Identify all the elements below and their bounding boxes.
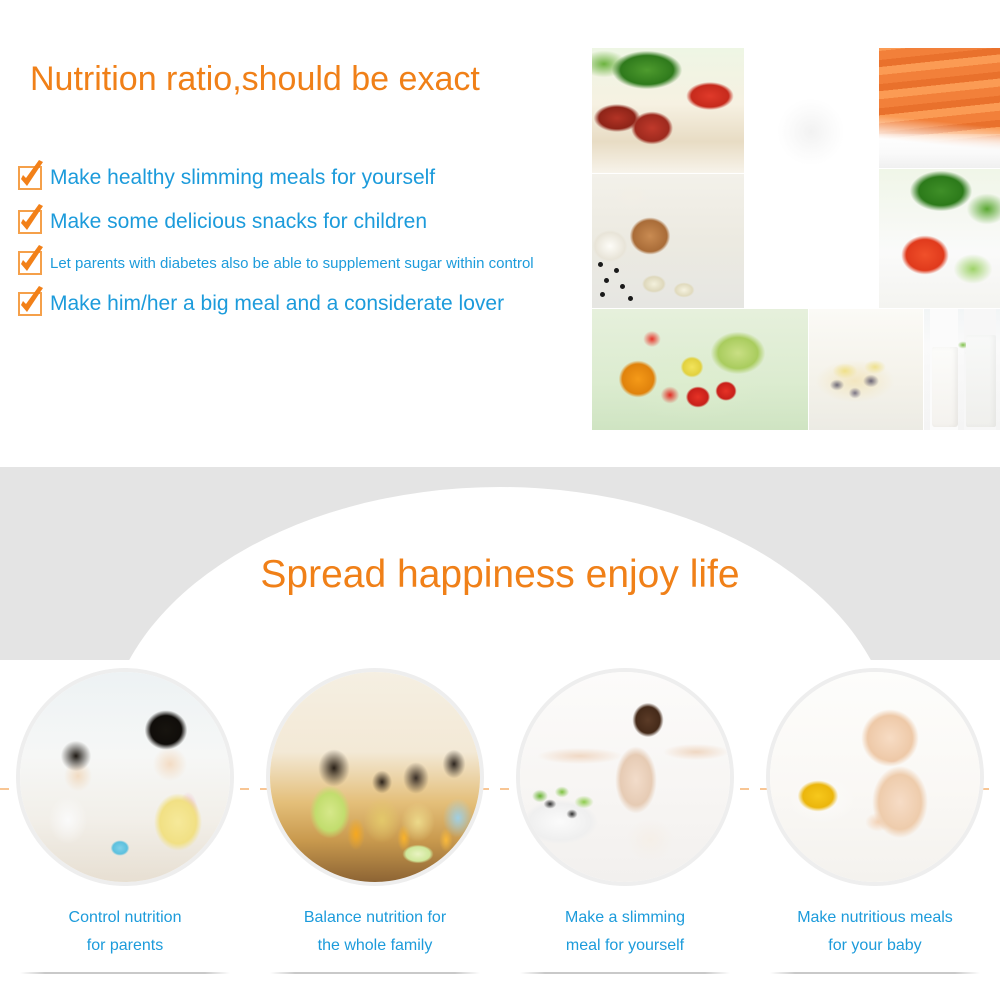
caption-line-2: for your baby bbox=[762, 932, 988, 960]
checkmark-icon bbox=[18, 166, 42, 190]
milk-glasses-photo bbox=[924, 309, 1000, 430]
page-title: Nutrition ratio,should be exact bbox=[30, 60, 480, 99]
use-case-caption: Balance nutrition for the whole family bbox=[262, 904, 488, 960]
benefit-list: Make healthy slimming meals for yourself… bbox=[18, 158, 618, 328]
use-cases-section: Balance nutrition for the whole family M… bbox=[0, 660, 1000, 1000]
band-title: Spread happiness enjoy life bbox=[0, 553, 1000, 597]
use-case-card: Balance nutrition for the whole family bbox=[250, 660, 500, 1000]
use-case-card: Make a slimming meal for yourself bbox=[500, 660, 750, 1000]
snack-tray-photo bbox=[809, 309, 923, 430]
caption-line-1: Control nutrition bbox=[12, 904, 238, 932]
woman-exercising-with-salad-photo bbox=[516, 668, 734, 886]
white-starch-powder-photo bbox=[745, 48, 878, 308]
use-case-caption: Make nutritious meals for your baby bbox=[762, 904, 988, 960]
benefit-label: Make some delicious snacks for children bbox=[50, 210, 427, 234]
caption-line-1: Balance nutrition for bbox=[262, 904, 488, 932]
caption-line-1: Make nutritious meals bbox=[762, 904, 988, 932]
caption-line-2: for parents bbox=[12, 932, 238, 960]
raw-beef-and-parsley-photo bbox=[592, 48, 744, 173]
caption-line-2: the whole family bbox=[262, 932, 488, 960]
eggs-and-tofu-photo bbox=[592, 174, 744, 308]
checkmark-icon bbox=[18, 292, 42, 316]
baby-with-bowl-photo bbox=[766, 668, 984, 886]
use-case-caption: Control nutrition for parents bbox=[12, 904, 238, 960]
caption-line-2: meal for yourself bbox=[512, 932, 738, 960]
food-collage bbox=[592, 48, 1000, 430]
leaf-icon bbox=[958, 339, 974, 361]
nutrition-ratio-section: Nutrition ratio,should be exact Make hea… bbox=[0, 0, 1000, 467]
fruit-platter-photo bbox=[592, 309, 808, 430]
caption-line-1: Make a slimming bbox=[512, 904, 738, 932]
benefit-label: Make healthy slimming meals for yourself bbox=[50, 166, 435, 190]
spread-happiness-band: Spread happiness enjoy life bbox=[0, 467, 1000, 660]
use-case-card: Make nutritious meals for your baby bbox=[750, 660, 1000, 1000]
checkmark-icon bbox=[18, 251, 42, 275]
caption-underline bbox=[270, 972, 480, 974]
benefit-item: Make healthy slimming meals for yourself bbox=[18, 158, 618, 198]
benefit-item: Let parents with diabetes also be able t… bbox=[18, 246, 618, 280]
benefit-item: Make him/her a big meal and a considerat… bbox=[18, 284, 618, 324]
family-celebrating-photo bbox=[266, 668, 484, 886]
benefit-label: Let parents with diabetes also be able t… bbox=[50, 255, 534, 272]
checkmark-icon bbox=[18, 210, 42, 234]
elderly-couple-in-kitchen-photo bbox=[16, 668, 234, 886]
use-case-card: Control nutrition for parents bbox=[0, 660, 250, 1000]
caption-underline bbox=[520, 972, 730, 974]
carrots-on-plate-photo bbox=[879, 48, 1000, 168]
benefit-item: Make some delicious snacks for children bbox=[18, 202, 618, 242]
use-case-caption: Make a slimming meal for yourself bbox=[512, 904, 738, 960]
caption-underline bbox=[20, 972, 230, 974]
benefit-label: Make him/her a big meal and a considerat… bbox=[50, 292, 504, 316]
tomato-and-lettuce-photo bbox=[879, 169, 1000, 308]
caption-underline bbox=[770, 972, 980, 974]
